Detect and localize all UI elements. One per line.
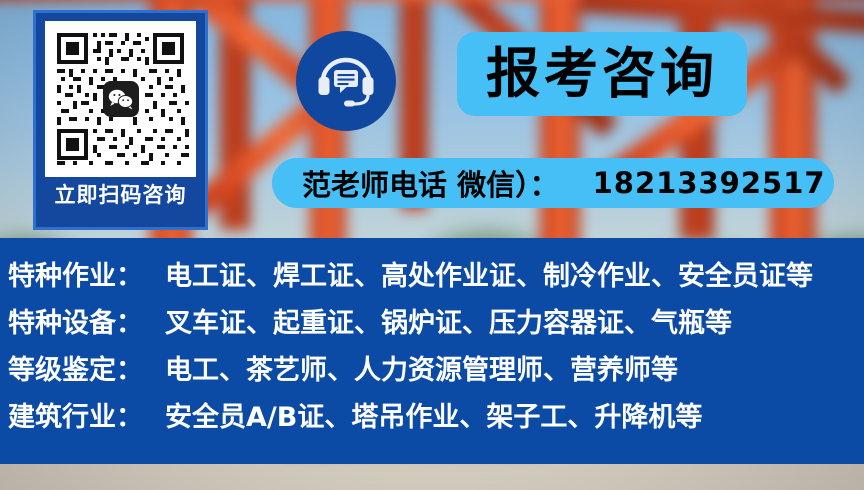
phone-number[interactable]: 18213392517 [593,166,826,200]
category-label: 等级鉴定： [8,348,143,387]
phone-badge[interactable]: 范老师电话 微信）： 18213392517 [272,158,834,208]
qr-caption: 立即扫码咨询 [55,185,187,206]
headset-chat-icon-svg [315,51,377,111]
qr-panel[interactable]: 立即扫码咨询 [33,10,208,230]
list-item: 特种作业： 电工证、焊工证、高处作业证、制冷作业、安全员证等 [8,254,864,301]
category-label: 特种设备： [8,301,143,340]
phone-label: 范老师电话 微信）： [302,162,559,204]
consult-title-badge[interactable]: 报考咨询 [457,32,747,116]
consult-title-text: 报考咨询 [486,47,718,101]
category-items: 叉车证、起重证、锅炉证、压力容器证、气瓶等 [165,301,732,340]
list-item: 特种设备： 叉车证、起重证、锅炉证、压力容器证、气瓶等 [8,301,864,348]
category-label: 建筑行业： [8,395,143,434]
category-list-panel: 特种作业： 电工证、焊工证、高处作业证、制冷作业、安全员证等 特种设备： 叉车证… [0,238,864,464]
list-item: 等级鉴定： 电工、茶艺师、人力资源管理师、营养师等 [8,348,864,395]
wechat-icon [103,81,139,117]
wechat-icon-svg [108,88,134,110]
list-item: 建筑行业： 安全员A/B证、塔吊作业、架子工、升降机等 [8,395,864,442]
headset-chat-icon [296,31,396,131]
category-items: 电工、茶艺师、人力资源管理师、营养师等 [165,348,678,387]
category-items: 安全员A/B证、塔吊作业、架子工、升降机等 [165,395,702,434]
category-items: 电工证、焊工证、高处作业证、制冷作业、安全员证等 [165,254,813,293]
poster-canvas: 立即扫码咨询 报考咨询 范老师电话 微信）： 18213392517 特种作业：… [0,0,864,490]
category-label: 特种作业： [8,254,143,293]
qr-code[interactable] [45,21,196,177]
